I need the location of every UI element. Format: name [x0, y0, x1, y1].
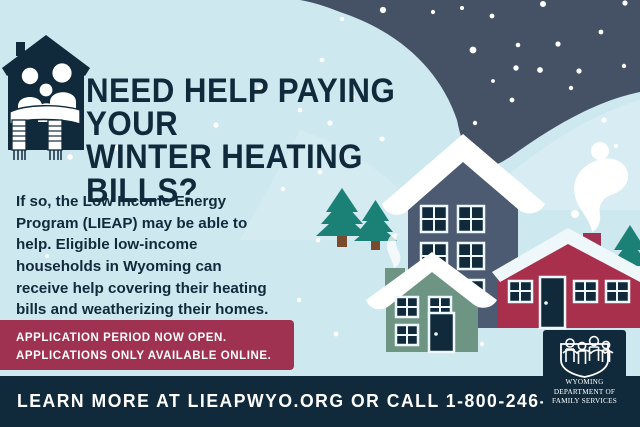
red-house-doorknob [544, 301, 548, 305]
page-title: Need help paying your winter heating bil… [86, 75, 436, 208]
poster: Need help paying your winter heating bil… [0, 0, 640, 427]
dfs-line-3: Family Services [543, 397, 626, 407]
red-banner-line-1: Application period now open. [16, 329, 275, 347]
smoke-puff-2 [571, 210, 579, 218]
status-badge: Application period now open. Application… [0, 320, 294, 370]
smoke-puff-1 [591, 142, 609, 160]
dfs-logo: Wyoming Department of Family Services [543, 330, 626, 413]
red-house-door [540, 277, 565, 328]
body-copy: If so, the Low Income Energy Program (LI… [16, 191, 278, 320]
headline-line-1: Need help paying your [86, 72, 395, 143]
dfs-line-1: Wyoming [543, 378, 626, 388]
footer-call-to-action[interactable]: Learn more at lieapwyo.org or call 1-800… [17, 390, 592, 412]
green-house-doorknob [434, 332, 438, 336]
dfs-logo-text: Wyoming Department of Family Services [543, 378, 626, 407]
dfs-line-2: Department of [543, 388, 626, 398]
icon-chimney [16, 42, 25, 56]
green-house-door [429, 313, 454, 352]
family-in-heart-icon [543, 330, 626, 380]
red-banner-line-2: Applications only available online. [16, 347, 275, 365]
